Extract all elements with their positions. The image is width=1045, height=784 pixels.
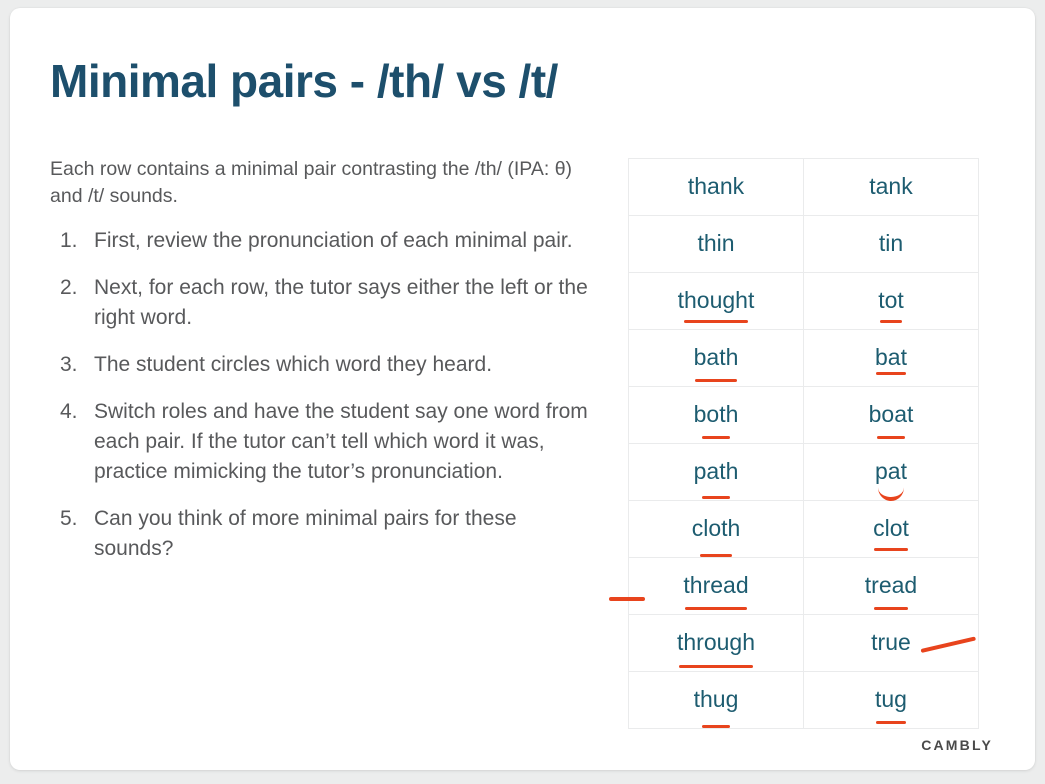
word-clot: clot bbox=[873, 517, 909, 540]
word-cloth: cloth bbox=[692, 517, 741, 540]
step-number: 5. bbox=[50, 504, 94, 564]
table-row: path pat bbox=[629, 444, 979, 501]
underline-mark-icon bbox=[700, 554, 731, 558]
table-cell-left[interactable]: bath bbox=[629, 330, 804, 387]
table-row: thug tug bbox=[629, 672, 979, 729]
steps-list: 1. First, review the pronunciation of ea… bbox=[50, 226, 595, 564]
table-cell-right[interactable]: clot bbox=[804, 501, 979, 558]
table-cell-right[interactable]: tot bbox=[804, 273, 979, 330]
word-tin: tin bbox=[879, 232, 903, 255]
table-cell-right[interactable]: bat bbox=[804, 330, 979, 387]
word-thought: thought bbox=[678, 289, 755, 312]
underline-mark-icon bbox=[702, 496, 731, 500]
word-tank: tank bbox=[869, 175, 912, 198]
underline-mark-icon bbox=[877, 436, 906, 440]
table-cell-right[interactable]: tread bbox=[804, 558, 979, 615]
underline-mark-icon bbox=[874, 548, 908, 552]
table-row: thin tin bbox=[629, 216, 979, 273]
curved-underline-mark-icon bbox=[878, 487, 905, 501]
table-cell-left[interactable]: through bbox=[629, 615, 804, 672]
instructions-panel: Each row contains a minimal pair contras… bbox=[50, 156, 595, 581]
underline-mark-icon bbox=[685, 607, 748, 611]
table-cell-right[interactable]: boat bbox=[804, 387, 979, 444]
table-cell-right[interactable]: pat bbox=[804, 444, 979, 501]
table-cell-left[interactable]: thin bbox=[629, 216, 804, 273]
slide-card: Minimal pairs - /th/ vs /t/ Each row con… bbox=[10, 8, 1035, 770]
step-number: 2. bbox=[50, 273, 94, 333]
underline-mark-icon bbox=[702, 725, 731, 729]
step-text: Can you think of more minimal pairs for … bbox=[94, 504, 595, 564]
page-title: Minimal pairs - /th/ vs /t/ bbox=[50, 54, 558, 108]
side-dash-mark-icon bbox=[609, 597, 645, 601]
word-true: true bbox=[871, 631, 911, 654]
step-text: First, review the pronunciation of each … bbox=[94, 226, 595, 256]
table-cell-left[interactable]: both bbox=[629, 387, 804, 444]
word-both: both bbox=[694, 403, 739, 426]
word-bat: bat bbox=[875, 346, 907, 369]
table-cell-left[interactable]: thank bbox=[629, 159, 804, 216]
table-row: thank tank bbox=[629, 159, 979, 216]
word-bath: bath bbox=[694, 346, 739, 369]
word-thug: thug bbox=[694, 688, 739, 711]
step-number: 1. bbox=[50, 226, 94, 256]
intro-paragraph: Each row contains a minimal pair contras… bbox=[50, 156, 595, 210]
underline-mark-icon bbox=[874, 607, 908, 611]
minimal-pairs-table: thank tank thin tin thought to bbox=[628, 158, 979, 729]
table-cell-right[interactable]: true bbox=[804, 615, 979, 672]
word-pat: pat bbox=[875, 460, 907, 483]
table-cell-left[interactable]: thought bbox=[629, 273, 804, 330]
table-row: through true bbox=[629, 615, 979, 672]
underline-mark-icon bbox=[876, 721, 907, 725]
diagonal-mark-icon bbox=[920, 636, 975, 652]
underline-mark-icon bbox=[702, 436, 731, 440]
word-path: path bbox=[694, 460, 739, 483]
list-item: 3. The student circles which word they h… bbox=[50, 350, 595, 380]
step-text: Next, for each row, the tutor says eithe… bbox=[94, 273, 595, 333]
word-tot: tot bbox=[878, 289, 904, 312]
list-item: 4. Switch roles and have the student say… bbox=[50, 397, 595, 487]
brand-logo: CAMBLY bbox=[921, 737, 993, 753]
table-cell-left[interactable]: thug bbox=[629, 672, 804, 729]
step-text: The student circles which word they hear… bbox=[94, 350, 595, 380]
underline-mark-icon bbox=[876, 372, 907, 376]
underline-mark-icon bbox=[880, 320, 902, 324]
word-thank: thank bbox=[688, 175, 744, 198]
table-cell-left[interactable]: path bbox=[629, 444, 804, 501]
table-cell-right[interactable]: tin bbox=[804, 216, 979, 273]
underline-mark-icon bbox=[679, 665, 754, 669]
table-cell-left[interactable]: cloth bbox=[629, 501, 804, 558]
table-cell-right[interactable]: tank bbox=[804, 159, 979, 216]
table-cell-right[interactable]: tug bbox=[804, 672, 979, 729]
word-thin: thin bbox=[697, 232, 734, 255]
word-thread: thread bbox=[683, 574, 748, 597]
underline-mark-icon bbox=[695, 379, 738, 383]
word-through: through bbox=[677, 631, 755, 654]
list-item: 1. First, review the pronunciation of ea… bbox=[50, 226, 595, 256]
table-row: thought tot bbox=[629, 273, 979, 330]
step-text: Switch roles and have the student say on… bbox=[94, 397, 595, 487]
step-number: 4. bbox=[50, 397, 94, 487]
word-boat: boat bbox=[869, 403, 914, 426]
word-tug: tug bbox=[875, 688, 907, 711]
step-number: 3. bbox=[50, 350, 94, 380]
table-row: both boat bbox=[629, 387, 979, 444]
word-tread: tread bbox=[865, 574, 917, 597]
list-item: 5. Can you think of more minimal pairs f… bbox=[50, 504, 595, 564]
underline-mark-icon bbox=[684, 320, 749, 324]
table-row: thread tread bbox=[629, 558, 979, 615]
table-cell-left[interactable]: thread bbox=[629, 558, 804, 615]
table-row: bath bat bbox=[629, 330, 979, 387]
list-item: 2. Next, for each row, the tutor says ei… bbox=[50, 273, 595, 333]
table-row: cloth clot bbox=[629, 501, 979, 558]
